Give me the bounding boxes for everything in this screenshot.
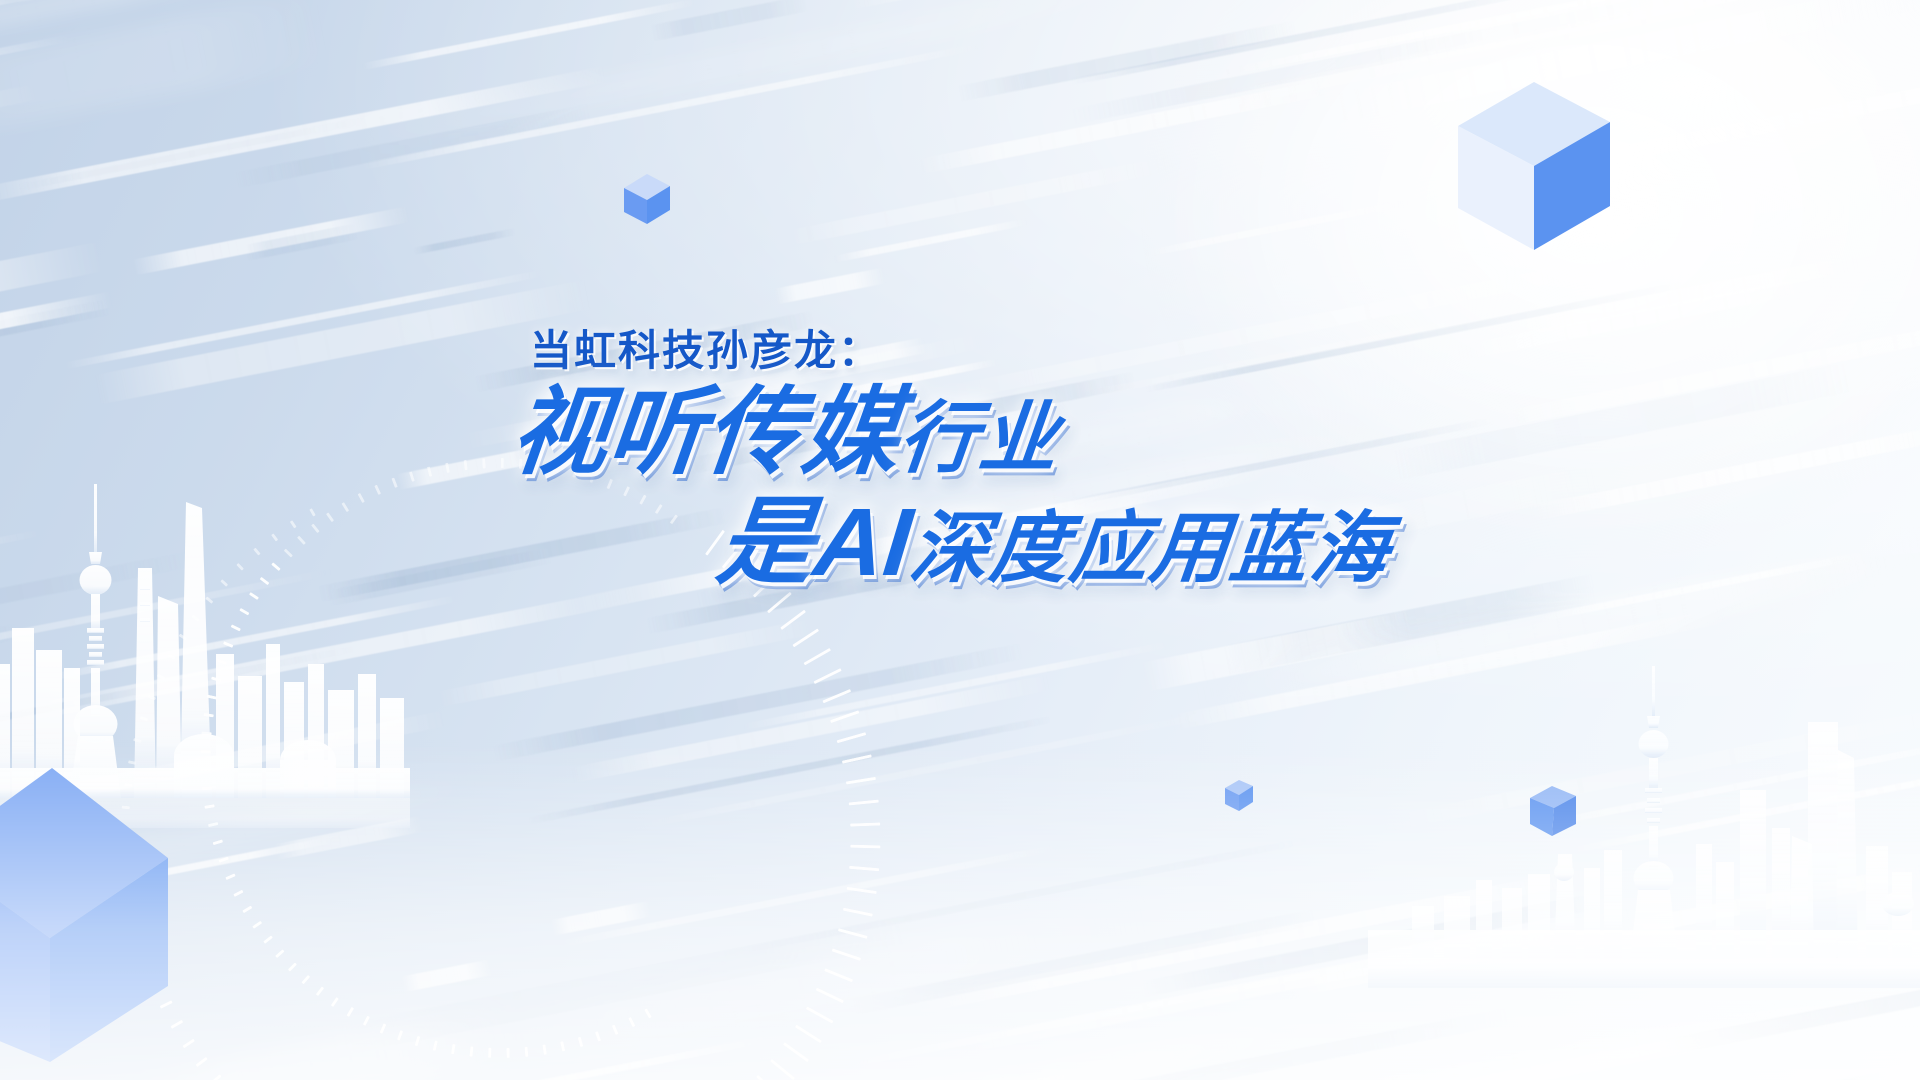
background-streak [30, 587, 639, 720]
background-streak [414, 228, 517, 255]
background-streak [1617, 861, 1920, 938]
title-line-2-suffix: 深度应用蓝海 [906, 504, 1395, 592]
slide-canvas: 当虹科技孙彦龙： 视听传媒行业 是AI深度应用蓝海 [0, 0, 1920, 1080]
background-streak [401, 959, 493, 992]
title-line-2-latin: AI [809, 489, 916, 596]
headline-block: 当虹科技孙彦龙： 视听传媒行业 是AI深度应用蓝海 [0, 330, 1560, 594]
background-sheet [0, 0, 335, 150]
background-streak [361, 0, 697, 70]
background-streak [774, 267, 886, 304]
background-streak [0, 869, 36, 967]
title-line-2: 是AI深度应用蓝海 [713, 492, 1566, 594]
title-line-1-suffix: 行业 [895, 394, 1064, 482]
title-line-1: 视听传媒行业 [507, 382, 1566, 484]
speaker-kicker: 当虹科技孙彦龙： [530, 330, 1560, 372]
background-streak [1553, 1071, 1892, 1080]
background-streak [0, 82, 44, 182]
title-line-2-prefix: 是 [712, 489, 820, 596]
background-streak [1144, 199, 1410, 257]
background-streak [637, 710, 1219, 830]
title-line-1-main: 视听传媒 [506, 379, 905, 486]
